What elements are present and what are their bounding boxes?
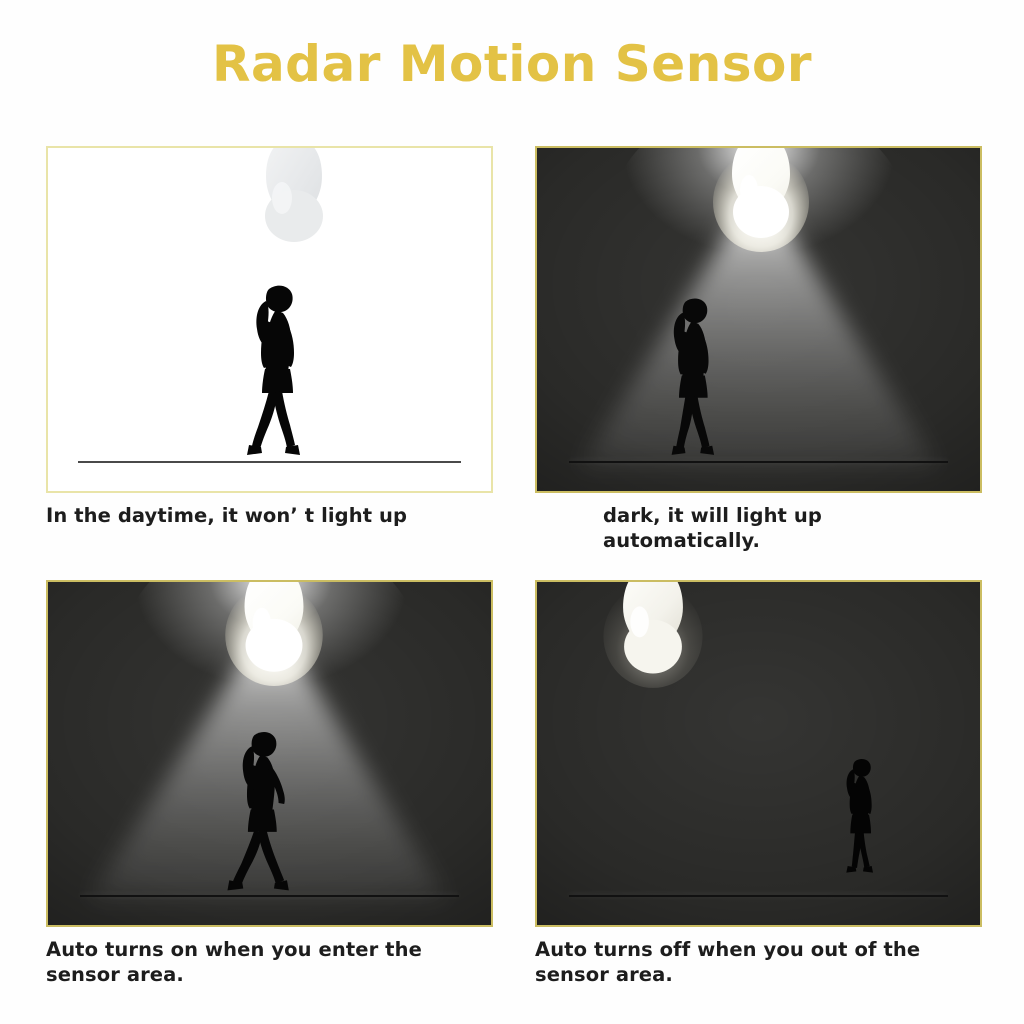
title-bar: Radar Motion Sensor — [0, 0, 1024, 128]
card-daytime-off: In the daytime, it won’ t light up — [46, 146, 493, 554]
caption-exit-sensor-area: Auto turns off when you out of the senso… — [535, 938, 982, 988]
person-silhouette — [833, 734, 885, 896]
caption-enter-sensor-area: Auto turns on when you enter the sensor … — [46, 938, 493, 988]
card-exit-sensor-area: Auto turns off when you out of the senso… — [535, 580, 982, 988]
floor-line — [78, 461, 461, 463]
page-title: Radar Motion Sensor — [212, 39, 812, 89]
bulb-on-icon — [223, 580, 325, 688]
card-dark-auto-on: dark, it will light up automatically. — [535, 146, 982, 554]
caption-dark-auto-on: dark, it will light up automatically. — [535, 504, 982, 554]
caption-daytime-off: In the daytime, it won’ t light up — [46, 504, 493, 529]
floor-line — [569, 461, 948, 463]
card-enter-sensor-area: Auto turns on when you enter the sensor … — [46, 580, 493, 988]
light-cone — [537, 148, 980, 491]
floor-line — [80, 895, 459, 897]
panel-daytime-off — [46, 146, 493, 493]
panel-vignette — [537, 582, 980, 925]
person-silhouette — [655, 290, 727, 462]
panel-enter-sensor-area — [46, 580, 493, 927]
panel-grid: In the daytime, it won’ t light up — [46, 146, 982, 988]
panel-exit-sensor-area — [535, 580, 982, 927]
floor-line — [569, 895, 948, 897]
person-silhouette — [236, 277, 314, 462]
panel-vignette — [537, 148, 980, 491]
bulb-off-icon — [601, 580, 705, 690]
panel-dark-auto-on — [535, 146, 982, 493]
bulb-on-icon — [711, 146, 811, 254]
person-silhouette — [220, 724, 300, 896]
bulb-off-icon — [244, 146, 344, 252]
